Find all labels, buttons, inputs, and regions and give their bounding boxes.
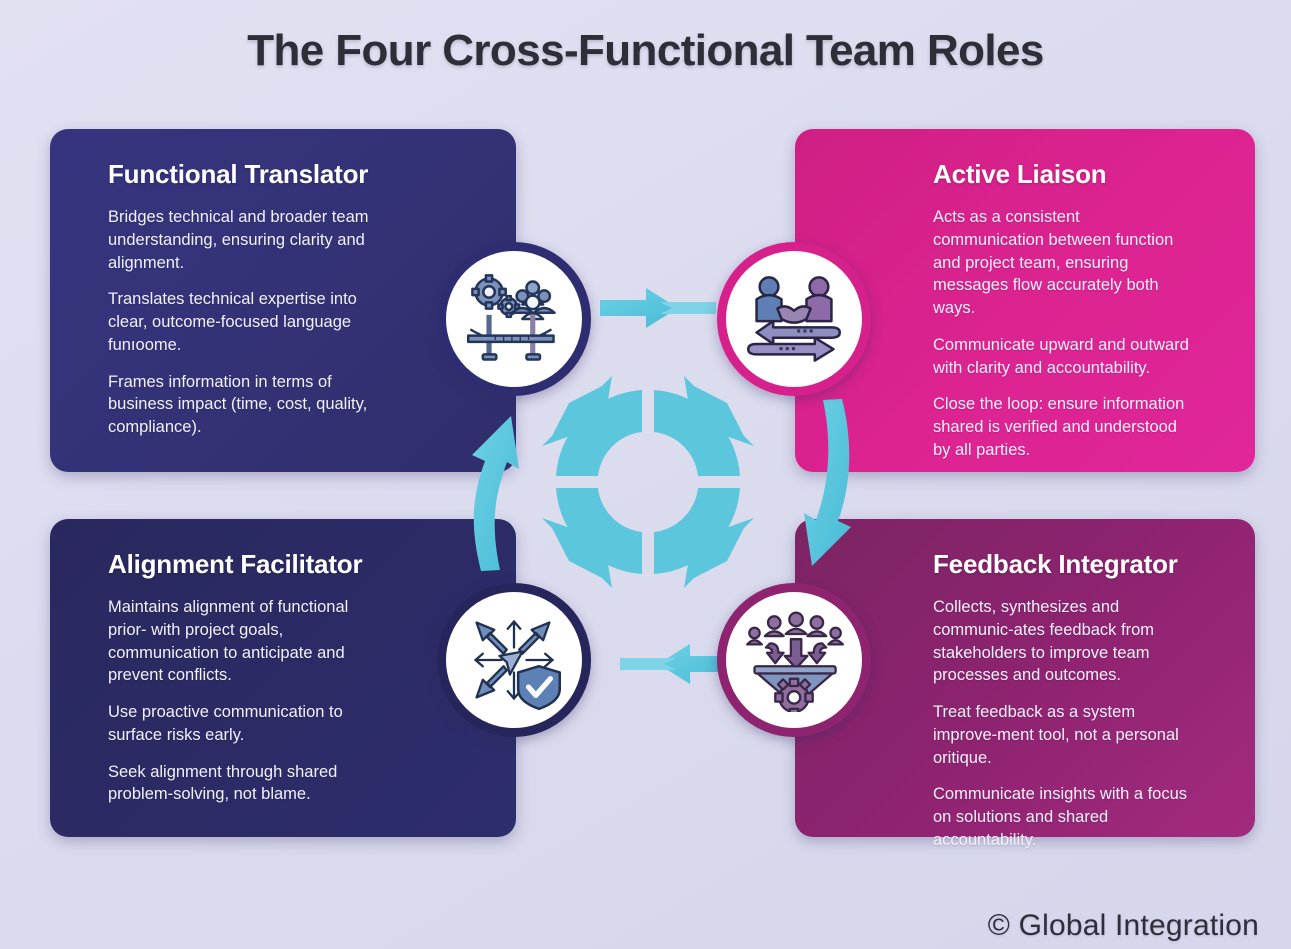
role-title-alignment-facilitator: Alignment Facilitator (84, 549, 482, 580)
icon-badge-feedback-integrator[interactable] (717, 583, 871, 737)
bridge-gears-people-icon (462, 267, 566, 371)
role-paragraph: Seek alignment through shared problem-so… (84, 761, 482, 807)
page-title: The Four Cross-Functional Team Roles (0, 26, 1291, 76)
role-paragraph: Maintains alignment of functional prior-… (84, 596, 482, 687)
icon-badge-active-liaison[interactable] (717, 242, 871, 396)
role-paragraph: Communicate upward and outward with clar… (829, 334, 1221, 380)
role-paragraph: Acts as a consistent communication betwe… (829, 206, 1221, 320)
icon-badge-alignment-facilitator[interactable] (437, 583, 591, 737)
role-paragraph: Translates technical expertise into clea… (84, 288, 482, 356)
role-paragraph: Close the loop: ensure information share… (829, 393, 1221, 461)
icon-badge-functional-translator[interactable] (437, 242, 591, 396)
role-title-active-liaison: Active Liaison (829, 159, 1221, 190)
handshake-two-way-arrows-icon (742, 267, 846, 371)
role-paragraph: Collects, synthesizes and communic-ates … (829, 596, 1221, 687)
role-paragraph: Frames information in terms of business … (84, 371, 482, 439)
role-paragraph: Use proactive communication to surface r… (84, 701, 482, 747)
role-paragraph: Communicate insights with a focus on sol… (829, 783, 1221, 851)
copyright-footer: © Global Integration (988, 909, 1259, 943)
role-paragraph: Bridges technical and broader team under… (84, 206, 482, 274)
infographic-stage: The Four Cross-Functional Team Roles Fun… (0, 0, 1291, 949)
arrow-top-left-to-top-right (600, 288, 716, 328)
role-title-functional-translator: Functional Translator (84, 159, 482, 190)
four-way-outward-arrow-ring-icon (542, 376, 754, 588)
funnel-feedback-gear-icon (742, 608, 846, 712)
role-paragraph: Treat feedback as a system improve-ment … (829, 701, 1221, 769)
role-title-feedback-integrator: Feedback Integrator (829, 549, 1221, 580)
radiating-arrows-shield-icon (462, 608, 566, 712)
